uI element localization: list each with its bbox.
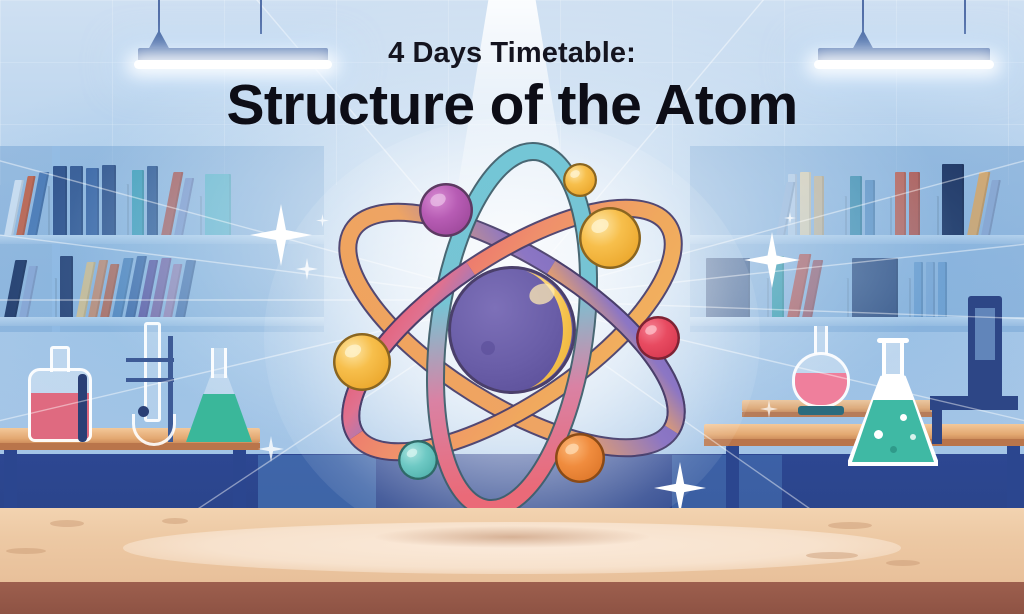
atom-svg xyxy=(318,140,706,520)
flask-rim xyxy=(877,338,909,343)
electron-orange xyxy=(555,433,605,483)
round-flask-pink xyxy=(792,326,850,414)
flask-liquid xyxy=(186,394,252,442)
scene-canvas: 4 Days Timetable: Structure of the Atom xyxy=(0,0,1024,614)
light-cord xyxy=(964,0,966,34)
title-block: 4 Days Timetable: Structure of the Atom xyxy=(0,38,1024,136)
microscope-apparatus xyxy=(962,296,1018,444)
bench-leg xyxy=(726,446,739,508)
flask-bulb xyxy=(792,352,850,408)
pedestal-shadow xyxy=(375,526,649,548)
table-grain xyxy=(806,552,858,559)
kicker-text: 4 Days Timetable: xyxy=(0,38,1024,69)
bench-leg xyxy=(4,450,17,508)
table-front-edge xyxy=(0,582,1024,614)
table-grain xyxy=(162,518,188,524)
nucleus xyxy=(448,266,576,394)
electron-crimson xyxy=(636,316,680,360)
conical-flask-green xyxy=(186,348,252,442)
stand-clamp xyxy=(126,378,174,382)
bench-leg xyxy=(1007,446,1020,508)
table-grain xyxy=(886,560,920,566)
page-title: Structure of the Atom xyxy=(0,75,1024,137)
bench-leg xyxy=(233,450,246,508)
stand-knob xyxy=(138,406,149,417)
stand-clamp xyxy=(126,358,174,362)
flask-stand-ring xyxy=(798,406,844,415)
bubble xyxy=(874,430,883,439)
bubble xyxy=(890,446,897,453)
bubble xyxy=(910,434,916,440)
electron-magenta xyxy=(419,183,473,237)
pipette-dark xyxy=(78,374,87,442)
light-cord xyxy=(862,0,864,34)
conical-flask-teal xyxy=(848,338,938,466)
light-cord xyxy=(260,0,262,34)
flask-neck xyxy=(211,348,227,378)
flask-liquid xyxy=(795,373,847,405)
flask-neck xyxy=(882,338,904,378)
table-grain xyxy=(50,520,84,527)
table-grain xyxy=(6,548,46,554)
electron-amber-left xyxy=(333,333,391,391)
electron-amber-top xyxy=(563,163,597,197)
apparatus-base xyxy=(930,396,1018,410)
atom-model xyxy=(318,140,706,520)
front-table xyxy=(0,508,1024,614)
electron-amber-right xyxy=(579,207,641,269)
apparatus-window xyxy=(975,308,995,360)
burette-stand xyxy=(118,322,192,446)
electron-teal xyxy=(398,440,438,480)
light-cord xyxy=(158,0,160,34)
bubble xyxy=(900,414,907,421)
flask-neck xyxy=(814,326,828,354)
table-grain xyxy=(828,522,872,529)
